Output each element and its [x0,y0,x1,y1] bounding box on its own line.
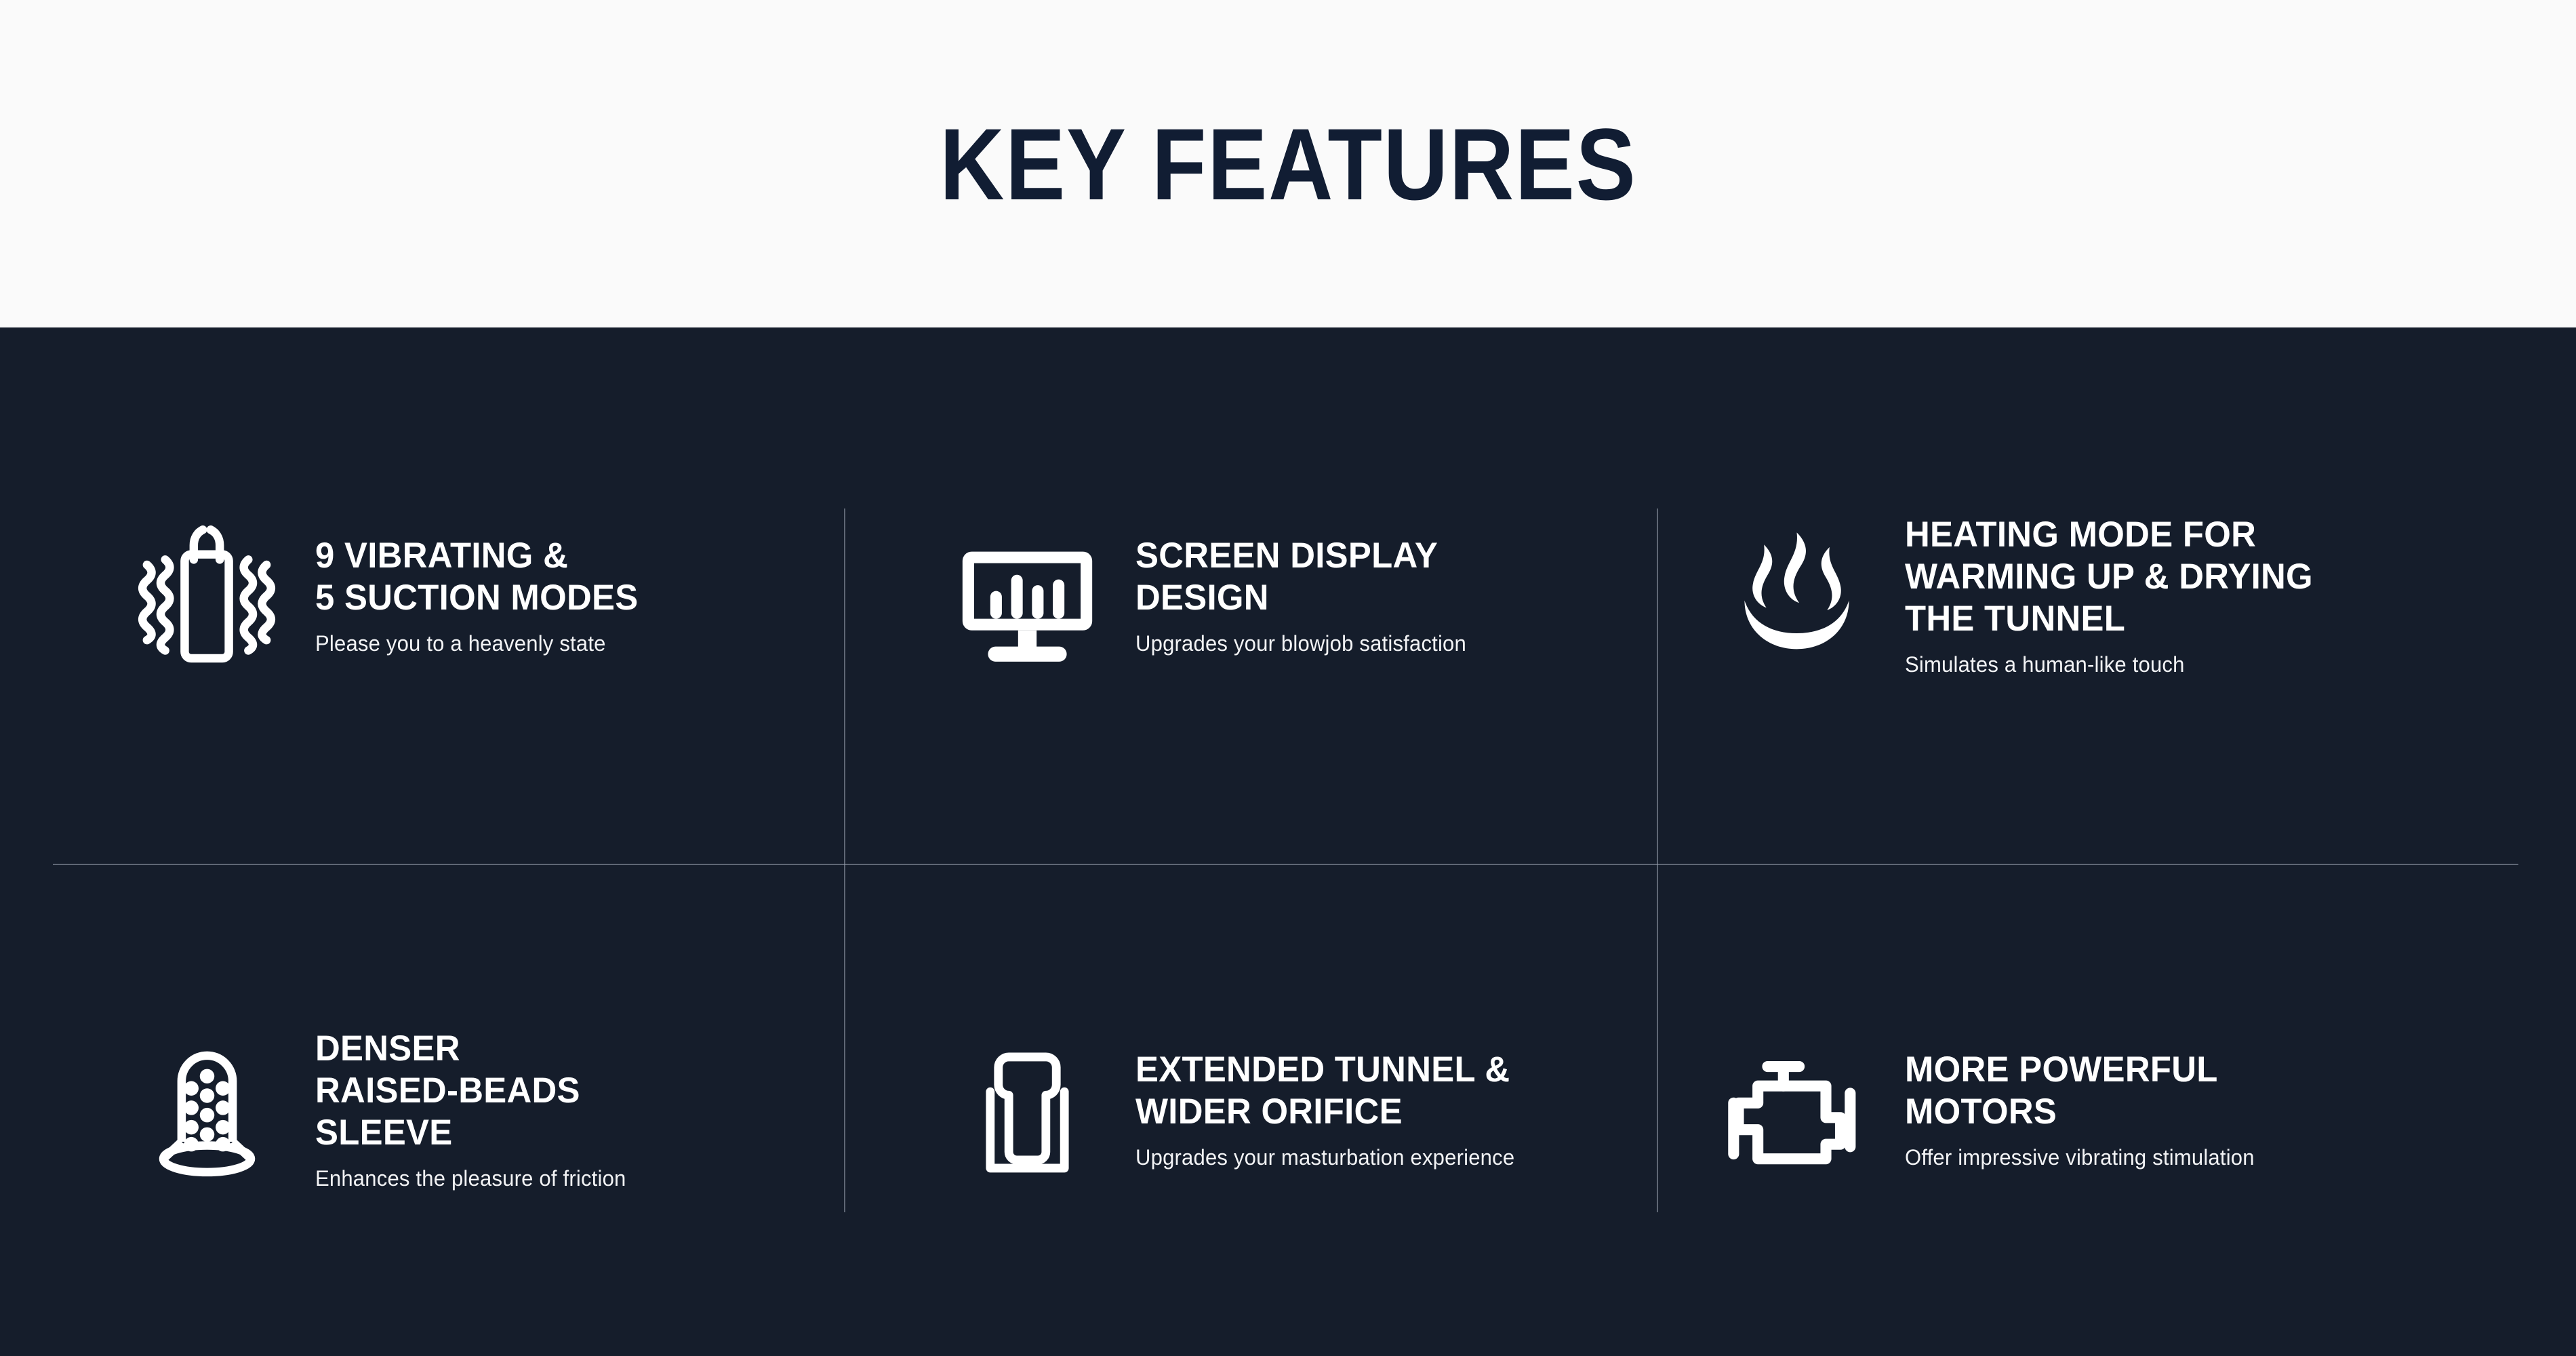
feature-subtitle: Upgrades your blowjob satisfaction [1135,630,1641,657]
feature-subtitle: Enhances the pleasure of friction [315,1165,828,1192]
feature-item-screen-display-design: SCREEN DISPLAY DESIGN Upgrades your blow… [844,327,1657,864]
feature-heading: 9 VIBRATING & 5 SUCTION MODES [315,535,823,619]
feature-text: MORE POWERFUL MOTORS Offer impressive vi… [1905,1049,2576,1171]
feature-item-powerful-motors: MORE POWERFUL MOTORS Offer impressive vi… [1657,864,2576,1356]
feature-subtitle: Upgrades your masturbation experience [1135,1144,1641,1171]
feature-subtitle: Offer impressive vibrating stimulation [1905,1144,2556,1171]
feature-heading: EXTENDED TUNNEL & WIDER ORIFICE [1135,1049,1636,1133]
extended-tunnel-icon [939,1022,1115,1198]
feature-subtitle: Please you to a heavenly state [315,630,828,657]
feature-text: 9 VIBRATING & 5 SUCTION MODES Please you… [315,535,844,657]
page-title: KEY FEATURES [940,113,1636,215]
feature-subtitle: Simulates a human-like touch [1905,651,2556,678]
feature-text: SCREEN DISPLAY DESIGN Upgrades your blow… [1135,535,1657,657]
feature-text: EXTENDED TUNNEL & WIDER ORIFICE Upgrades… [1135,1049,1657,1171]
screen-display-icon [939,508,1115,684]
vibrating-device-icon [119,508,295,684]
feature-item-extended-tunnel: EXTENDED TUNNEL & WIDER ORIFICE Upgrades… [844,864,1657,1356]
key-features-panel: KEY FEATURES [0,0,2576,1356]
beaded-sleeve-icon [119,1022,295,1198]
heating-steam-icon [1708,508,1885,684]
feature-item-heating-mode: HEATING MODE FOR WARMING UP & DRYING THE… [1657,327,2576,864]
header-band: KEY FEATURES [0,0,2576,327]
feature-heading: MORE POWERFUL MOTORS [1905,1049,2549,1133]
feature-text: DENSER RAISED-BEADS SLEEVE Enhances the … [315,1028,844,1192]
feature-text: HEATING MODE FOR WARMING UP & DRYING THE… [1905,514,2576,678]
motor-engine-icon [1708,1022,1885,1198]
feature-heading: SCREEN DISPLAY DESIGN [1135,535,1636,619]
feature-heading: HEATING MODE FOR WARMING UP & DRYING THE… [1905,514,2549,640]
feature-grid: 9 VIBRATING & 5 SUCTION MODES Please you… [0,327,2576,1356]
feature-heading: DENSER RAISED-BEADS SLEEVE [315,1028,823,1154]
feature-item-raised-beads-sleeve: DENSER RAISED-BEADS SLEEVE Enhances the … [0,864,844,1356]
feature-item-vibrating-suction-modes: 9 VIBRATING & 5 SUCTION MODES Please you… [0,327,844,864]
